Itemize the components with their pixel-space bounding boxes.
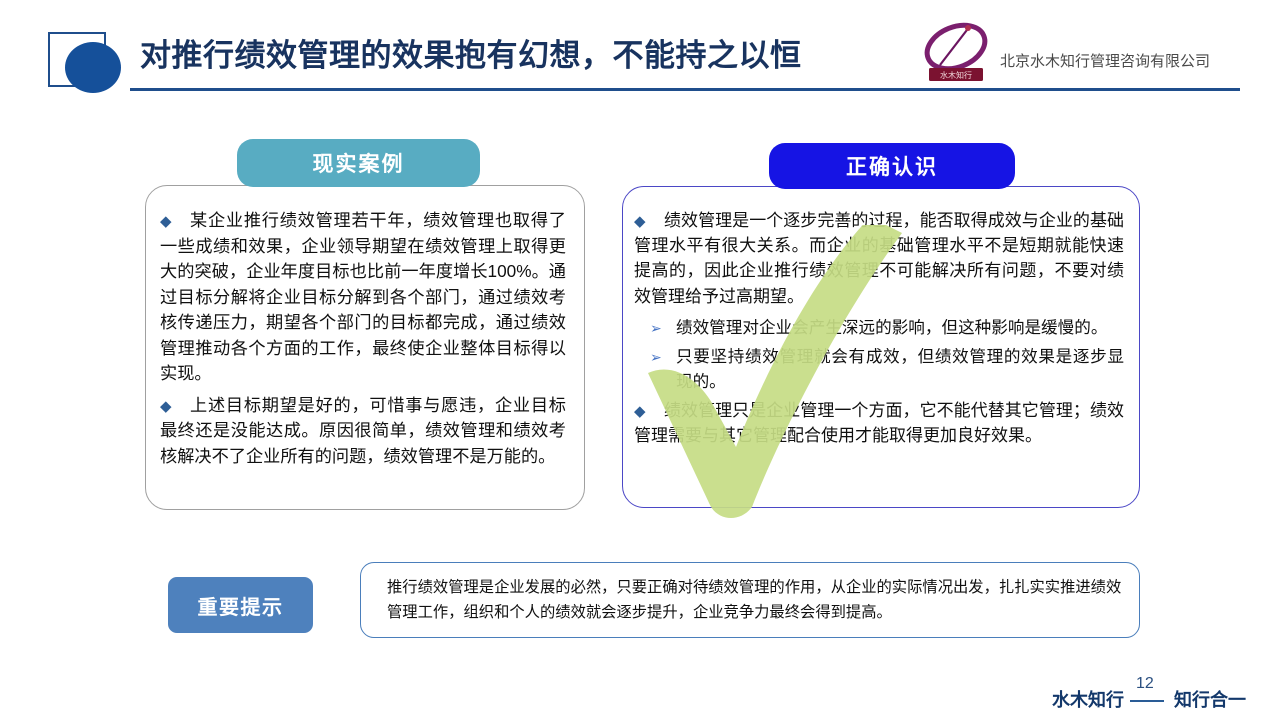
left-paragraph-2: ◆ 上述目标期望是好的，可惜事与愿违，企业目标最终还是没能达成。原因很简单，绩效…: [160, 393, 566, 470]
arrow-bullet-icon: ➢: [650, 317, 662, 339]
page-number: 12: [1136, 675, 1154, 693]
right-paragraph-2: ◆ 绩效管理只是企业管理一个方面，它不能代替其它管理；绩效管理需要与其它管理配合…: [634, 398, 1124, 448]
right-paragraph-2-text: 绩效管理只是企业管理一个方面，它不能代替其它管理；绩效管理需要与其它管理配合使用…: [634, 401, 1124, 445]
tab-reality-case[interactable]: 现实案例: [237, 139, 480, 187]
panel-correct-understanding-body: ◆ 绩效管理是一个逐步完善的过程，能否取得成效与企业的基础管理水平有很大关系。而…: [626, 200, 1136, 502]
panel-reality-case-body: ◆ 某企业推行绩效管理若干年，绩效管理也取得了一些成绩和效果，企业领导期望在绩效…: [150, 200, 580, 505]
diamond-bullet-icon: ◆: [160, 212, 172, 232]
right-subitem-1: ➢ 绩效管理对企业会产生深远的影响，但这种影响是缓慢的。: [634, 315, 1124, 340]
shuimu-zhixing-logo-icon: 水木知行: [918, 20, 994, 86]
slide-header: 对推行绩效管理的效果抱有幻想，不能持之以恒 水木知行 北京水木知行管理咨询有限公…: [0, 0, 1280, 105]
right-paragraph-1: ◆ 绩效管理是一个逐步完善的过程，能否取得成效与企业的基础管理水平有很大关系。而…: [634, 208, 1124, 309]
diamond-bullet-icon: ◆: [634, 402, 646, 422]
ellipse-fill-icon: [65, 42, 121, 93]
slide-footer: 水木知行 12 知行合一: [1040, 684, 1260, 714]
right-paragraph-1-text: 绩效管理是一个逐步完善的过程，能否取得成效与企业的基础管理水平有很大关系。而企业…: [634, 211, 1124, 306]
page-title: 对推行绩效管理的效果抱有幻想，不能持之以恒: [140, 34, 802, 78]
important-note-text: 推行绩效管理是企业发展的必然，只要正确对待绩效管理的作用，从企业的实际情况出发，…: [387, 575, 1123, 625]
page-number-underline: [1130, 700, 1164, 702]
right-subitem-1-text: 绩效管理对企业会产生深远的影响，但这种影响是缓慢的。: [676, 318, 1107, 337]
important-note-box: 推行绩效管理是企业发展的必然，只要正确对待绩效管理的作用，从企业的实际情况出发，…: [360, 562, 1140, 638]
important-note-badge: 重要提示: [168, 577, 313, 633]
diamond-bullet-icon: ◆: [634, 212, 646, 232]
left-paragraph-2-text: 上述目标期望是好的，可惜事与愿违，企业目标最终还是没能达成。原因很简单，绩效管理…: [160, 395, 566, 466]
footer-brand-left: 水木知行: [1052, 686, 1124, 712]
svg-text:水木知行: 水木知行: [940, 70, 972, 80]
company-name: 北京水木知行管理咨询有限公司: [1000, 50, 1210, 71]
left-paragraph-1-text: 某企业推行绩效管理若干年，绩效管理也取得了一些成绩和效果，企业领导期望在绩效管理…: [160, 210, 566, 383]
footer-brand-right: 知行合一: [1174, 686, 1246, 712]
right-subitem-2: ➢ 只要坚持绩效管理就会有成效，但绩效管理的效果是逐步显现的。: [634, 344, 1124, 394]
left-paragraph-1: ◆ 某企业推行绩效管理若干年，绩效管理也取得了一些成绩和效果，企业领导期望在绩效…: [160, 208, 566, 387]
tab-correct-understanding[interactable]: 正确认识: [769, 143, 1015, 189]
diamond-bullet-icon: ◆: [160, 397, 172, 417]
right-subitem-2-text: 只要坚持绩效管理就会有成效，但绩效管理的效果是逐步显现的。: [676, 347, 1124, 391]
arrow-bullet-icon: ➢: [650, 346, 662, 368]
header-divider: [130, 88, 1240, 91]
